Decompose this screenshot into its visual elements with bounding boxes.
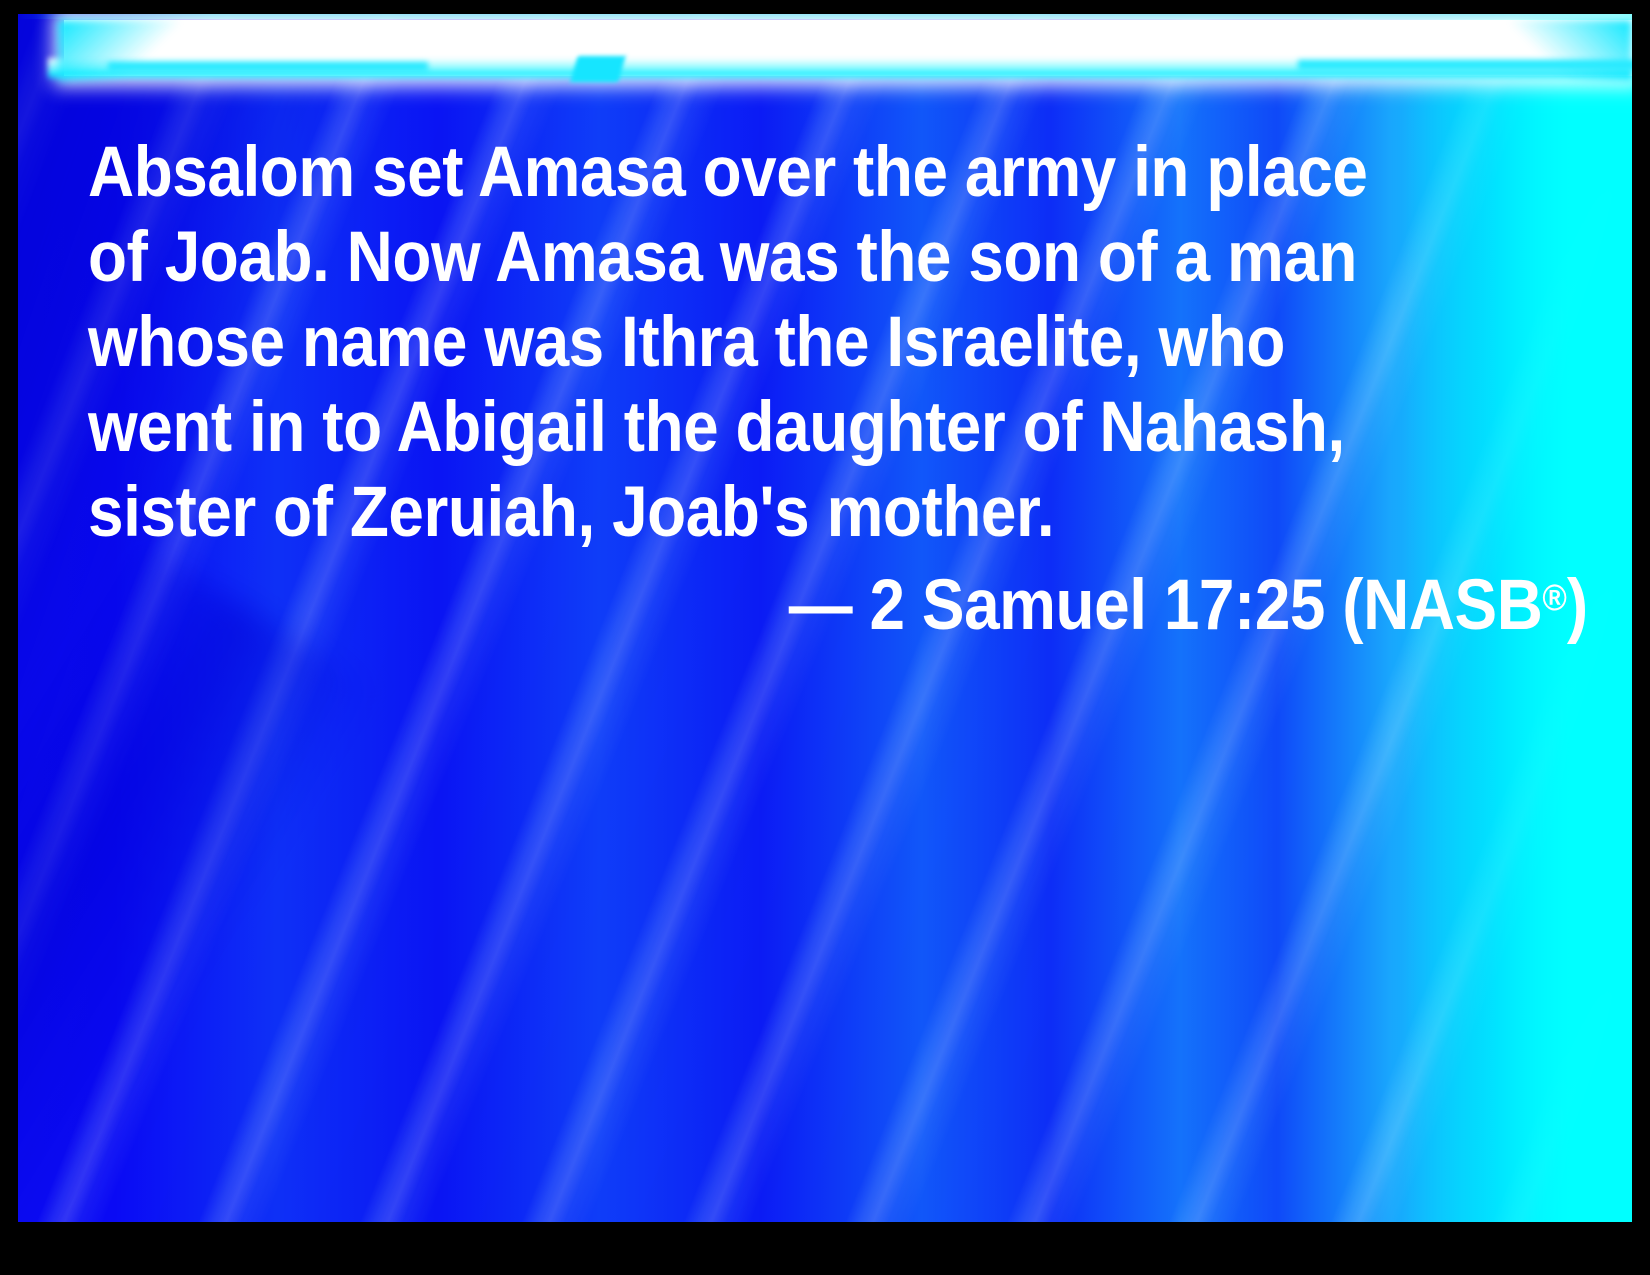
canvas-bottom-edge: [18, 1222, 1632, 1232]
registered-trademark-icon: ®: [1543, 577, 1567, 618]
verse-slide: Absalom set Amasa over the army in place…: [0, 0, 1650, 1275]
verse-line-1: Absalom set Amasa over the army in place: [88, 130, 1438, 215]
attribution-line: — 2 Samuel 17:25 (NASB®): [789, 555, 1588, 648]
verse-line-5: sister of Zeruiah, Joab's mother.: [88, 470, 1438, 555]
verse-attribution: — 2 Samuel 17:25 (NASB®): [88, 555, 1588, 648]
top-band-streak-center: [570, 56, 625, 82]
verse-line-2: of Joab. Now Amasa was the son of a man: [88, 215, 1438, 300]
top-band-right-taper: [1512, 20, 1632, 82]
top-highlight-band: [18, 14, 1632, 90]
top-band-hairline: [18, 14, 1632, 19]
top-band-streak-right: [1298, 60, 1632, 70]
slide-canvas: Absalom set Amasa over the army in place…: [18, 14, 1632, 1232]
attribution-closing-paren: ): [1567, 566, 1588, 645]
verse-text-block: Absalom set Amasa over the army in place…: [88, 130, 1588, 555]
verse-line-4: went in to Abigail the daughter of Nahas…: [88, 385, 1438, 470]
verse-line-3: whose name was Ithra the Israelite, who: [88, 300, 1438, 385]
top-band-left-taper: [58, 20, 178, 82]
attribution-main-text: — 2 Samuel 17:25 (NASB: [789, 566, 1543, 645]
top-band-streak-left: [108, 62, 428, 71]
